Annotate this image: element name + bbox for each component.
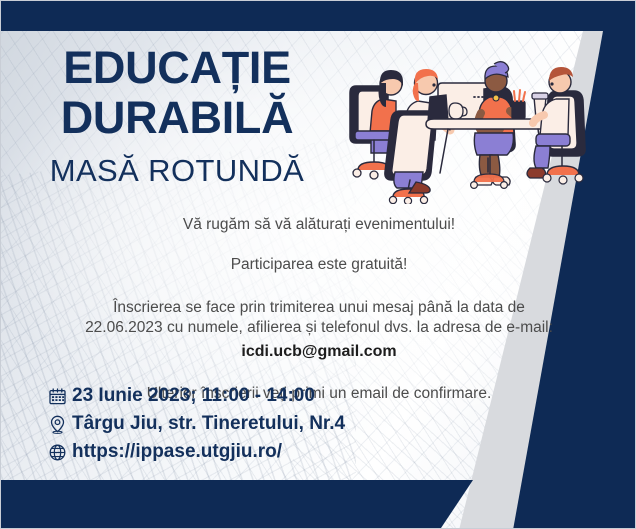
detail-row-location: Târgu Jiu, str. Tineretului, Nr.4 — [48, 410, 345, 438]
detail-row-website[interactable]: https://ippase.utgjiu.ro/ — [48, 438, 345, 466]
calendar-icon — [48, 386, 67, 407]
event-details-list: 23 Iunie 2023; 11:00 - 14:00 Târgu Jiu, … — [48, 382, 345, 466]
event-location-text: Târgu Jiu, str. Tineretului, Nr.4 — [72, 410, 345, 438]
contact-email[interactable]: icdi.ucb@gmail.com — [1, 342, 636, 362]
free-participation-line: Participarea este gratuită! — [1, 255, 636, 275]
subtitle: MASĂ ROTUNDĂ — [1, 153, 353, 189]
event-date-text: 23 Iunie 2023; 11:00 - 14:00 — [72, 382, 315, 410]
invite-line: Vă rugăm să vă alăturați evenimentului! — [1, 215, 636, 235]
title-block: EDUCAȚIE DURABILĂ MASĂ ROTUNDĂ — [1, 43, 353, 189]
person-right — [527, 67, 585, 184]
title-line-1: EDUCAȚIE — [1, 43, 353, 93]
poster-root: EDUCAȚIE DURABILĂ MASĂ ROTUNDĂ .ln { fil… — [0, 0, 636, 529]
round-table-meeting-illustration: .ln { fill:none; stroke:#2a2a3d; stroke-… — [338, 39, 606, 204]
top-navy-bar — [1, 1, 635, 31]
location-pin-icon — [48, 414, 67, 435]
registration-line-2: 22.06.2023 cu numele, afilierea și telef… — [1, 318, 636, 338]
detail-row-date: 23 Iunie 2023; 11:00 - 14:00 — [48, 382, 345, 410]
globe-icon — [48, 442, 67, 463]
registration-line-1: Înscrierea se face prin trimiterea unui … — [1, 297, 636, 318]
title-line-2: DURABILĂ — [1, 93, 353, 143]
body-copy: Vă rugăm să vă alăturați evenimentului! … — [1, 215, 636, 404]
event-website-text[interactable]: https://ippase.utgjiu.ro/ — [72, 438, 282, 466]
